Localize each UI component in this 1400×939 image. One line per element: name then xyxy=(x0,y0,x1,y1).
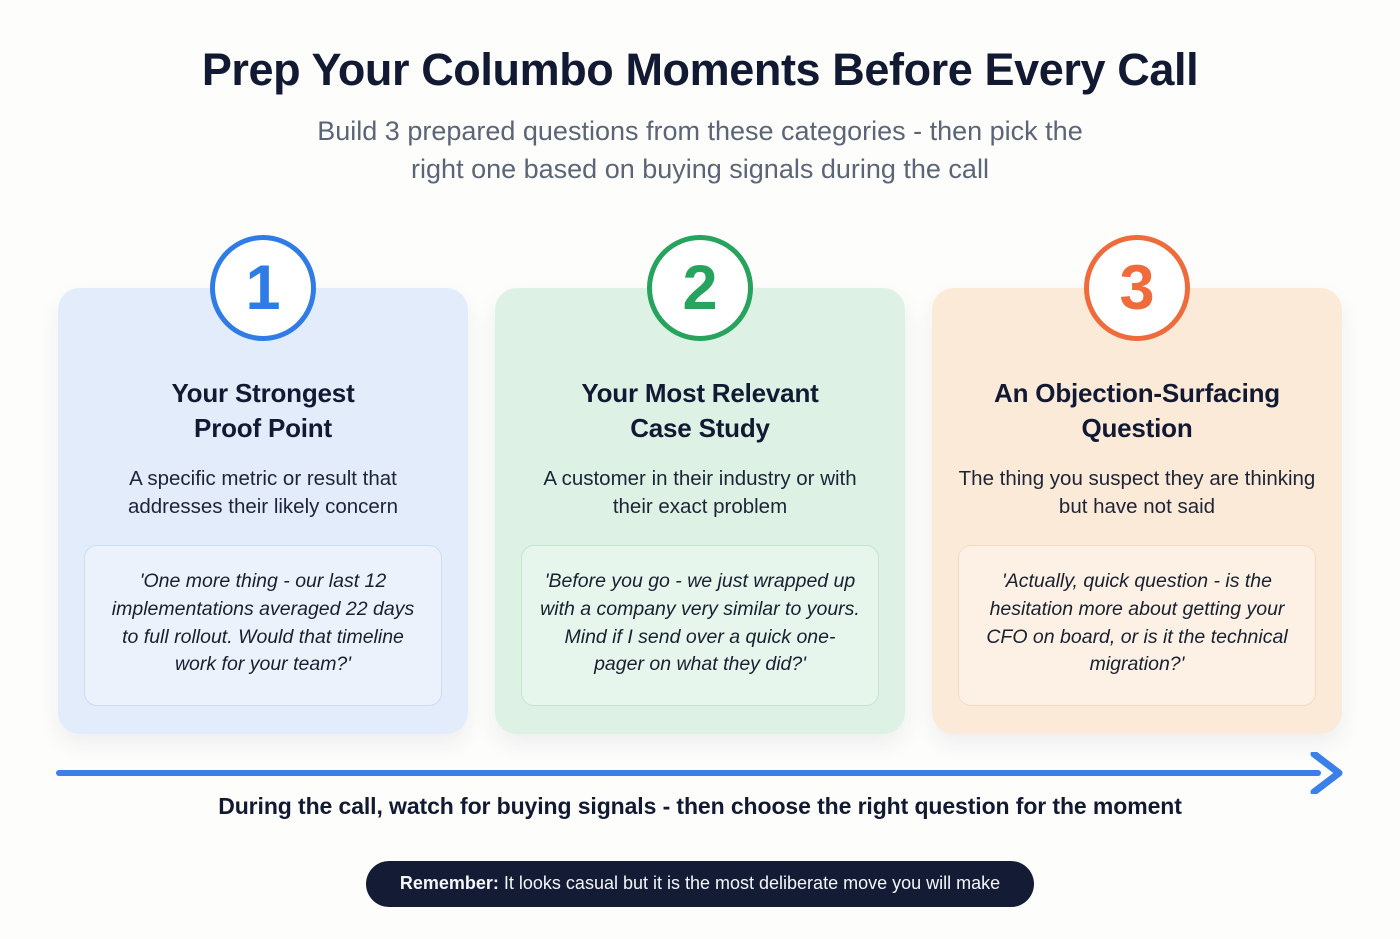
card-quote-1: 'One more thing - our last 12 implementa… xyxy=(84,545,442,706)
card-quote-3: 'Actually, quick question - is the hesit… xyxy=(958,545,1316,706)
progress-arrow xyxy=(56,752,1344,794)
step-number-badge-2: 2 xyxy=(647,235,753,341)
category-card-2[interactable]: 2 Your Most Relevant Case Study A custom… xyxy=(495,288,905,734)
card-quote-2: 'Before you go - we just wrapped up with… xyxy=(521,545,879,706)
page-subtitle-line-2: right one based on buying signals during… xyxy=(0,150,1400,188)
card-title-2: Your Most Relevant Case Study xyxy=(581,376,818,446)
card-description-3: The thing you suspect they are thinking … xyxy=(958,465,1316,522)
card-description-2: A customer in their industry or with the… xyxy=(521,465,879,522)
card-title-3: An Objection-Surfacing Question xyxy=(994,376,1280,446)
category-cards: 1 Your Strongest Proof Point A specific … xyxy=(58,288,1342,734)
remember-label: Remember: xyxy=(400,873,499,893)
card-title-line-1: An Objection-Surfacing xyxy=(994,378,1280,408)
card-title-line-2: Case Study xyxy=(630,413,770,443)
card-title-line-1: Your Strongest xyxy=(171,378,354,408)
footnote-text: During the call, watch for buying signal… xyxy=(0,793,1400,820)
category-card-1[interactable]: 1 Your Strongest Proof Point A specific … xyxy=(58,288,468,734)
page-subtitle: Build 3 prepared questions from these ca… xyxy=(0,112,1400,189)
right-arrow-icon xyxy=(56,752,1344,794)
remember-pill-container: Remember: It looks casual but it is the … xyxy=(0,861,1400,907)
remember-pill: Remember: It looks casual but it is the … xyxy=(366,861,1034,907)
step-number-badge-3: 3 xyxy=(1084,235,1190,341)
card-title-line-1: Your Most Relevant xyxy=(581,378,818,408)
card-title-1: Your Strongest Proof Point xyxy=(171,376,354,446)
header: Prep Your Columbo Moments Before Every C… xyxy=(0,0,1400,188)
page-title: Prep Your Columbo Moments Before Every C… xyxy=(0,44,1400,96)
card-title-line-2: Proof Point xyxy=(194,413,332,443)
page-subtitle-line-1: Build 3 prepared questions from these ca… xyxy=(0,112,1400,150)
category-card-3[interactable]: 3 An Objection-Surfacing Question The th… xyxy=(932,288,1342,734)
remember-text: It looks casual but it is the most delib… xyxy=(504,873,1000,893)
card-title-line-2: Question xyxy=(1081,413,1192,443)
card-description-1: A specific metric or result that address… xyxy=(84,465,442,522)
step-number-badge-1: 1 xyxy=(210,235,316,341)
